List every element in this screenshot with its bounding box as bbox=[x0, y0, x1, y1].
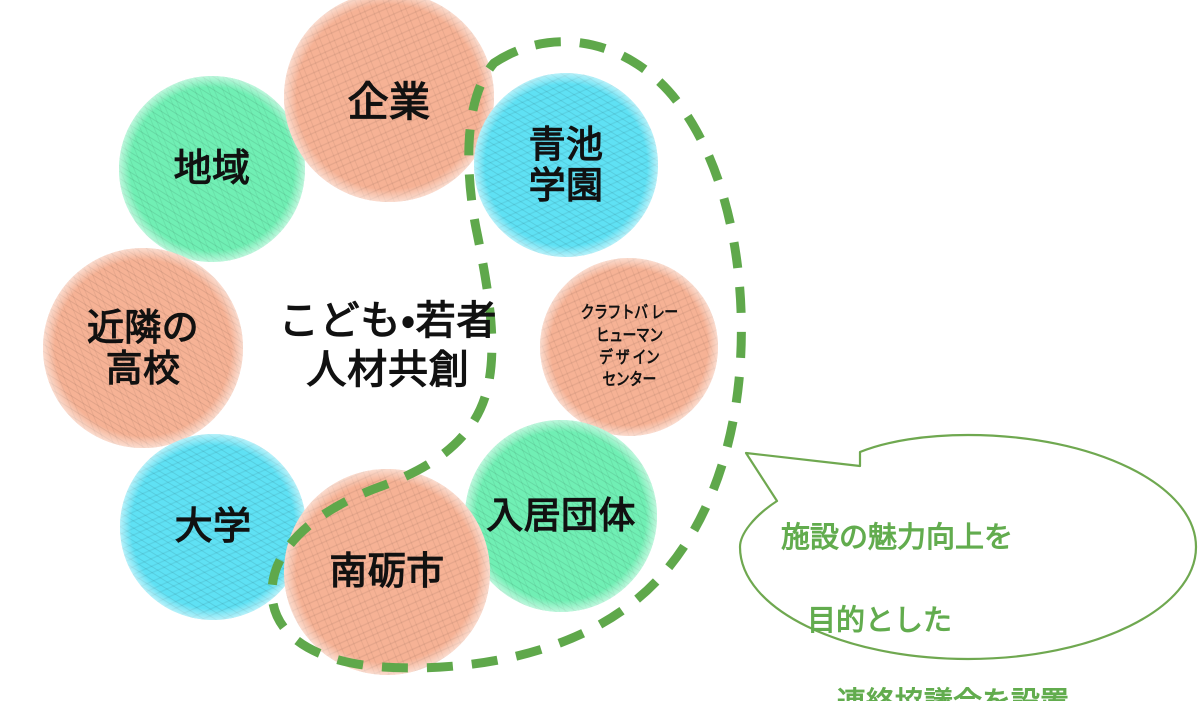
node-label-daigaku: 大学 bbox=[175, 506, 252, 549]
node-nyukyo[interactable]: 入居団体 bbox=[465, 420, 657, 612]
node-label-nanto: 南砺市 bbox=[329, 551, 444, 594]
callout-text-line1: 施設の魅力向上を bbox=[781, 518, 1181, 559]
callout-text-line2: 目的とした bbox=[781, 601, 1181, 642]
node-aoike[interactable]: 青池 学園 bbox=[474, 73, 658, 257]
center-headline: こども・若者 人材共創 bbox=[238, 288, 538, 404]
node-label-chiiki: 地域 bbox=[174, 148, 251, 191]
node-label-kinrin: 近隣の 高校 bbox=[87, 307, 199, 390]
diagram-canvas: 地域 企業 青池 学園 近隣の 高校 クラフトバ レー ヒューマン デ ザ イン… bbox=[0, 0, 1200, 701]
node-label-nyukyo: 入居団体 bbox=[486, 495, 635, 536]
node-daigaku[interactable]: 大学 bbox=[120, 434, 306, 620]
center-headline-line1: こども・若者 bbox=[279, 297, 497, 346]
node-kinrin[interactable]: 近隣の 高校 bbox=[43, 248, 243, 448]
center-headline-line2: 人材共創 bbox=[306, 346, 469, 395]
node-label-kigyou: 企業 bbox=[348, 80, 431, 126]
callout-text-line3: 連絡協議会を設置 bbox=[781, 683, 1181, 701]
node-chiiki[interactable]: 地域 bbox=[119, 76, 305, 262]
node-kigyou[interactable]: 企業 bbox=[284, 0, 494, 202]
node-craft[interactable]: クラフトバ レー ヒューマン デ ザ イン センター bbox=[540, 258, 718, 436]
callout-text: 施設の魅力向上を 目的とした 連絡協議会を設置 bbox=[781, 477, 1181, 701]
node-label-aoike: 青池 学園 bbox=[529, 124, 604, 207]
node-label-craft: クラフトバ レー ヒューマン デ ザ イン センター bbox=[580, 302, 677, 392]
node-nanto[interactable]: 南砺市 bbox=[284, 469, 490, 675]
